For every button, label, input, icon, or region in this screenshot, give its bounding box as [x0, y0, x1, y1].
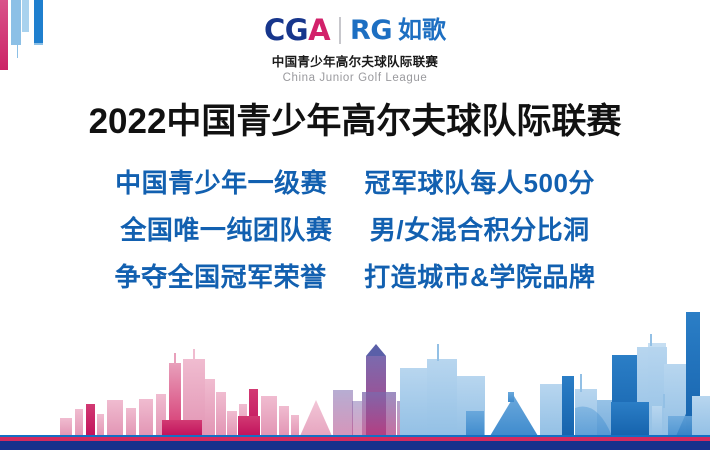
tagline-right: 男/女混合积分比洞: [370, 215, 590, 245]
tagline-row: 全国唯一纯团队赛 男/女混合积分比洞: [0, 207, 710, 254]
skyline-svg: [0, 296, 710, 436]
rg-chinese-name: 如歌: [398, 19, 446, 43]
tagline-right: 冠军球队每人500分: [365, 168, 595, 198]
logo-block: CGA RG 如歌 中国青少年高尔夫球队际联赛 China Junior Gol…: [0, 16, 710, 84]
cga-letter-c: C: [264, 13, 285, 47]
cga-letter-a: A: [308, 13, 330, 47]
skyline-graphic: [0, 296, 710, 436]
page-title: 2022中国青少年高尔夫球队际联赛: [0, 93, 710, 144]
rg-wordmark: RG: [350, 17, 392, 44]
bottom-stripe-navy: [0, 441, 710, 450]
poster-canvas: CGA RG 如歌 中国青少年高尔夫球队际联赛 China Junior Gol…: [0, 0, 710, 450]
tagline-left: 全国唯一纯团队赛: [120, 215, 332, 245]
tagline-row: 争夺全国冠军荣誉 打造城市&学院品牌: [0, 254, 710, 301]
tagline-list: 中国青少年一级赛 冠军球队每人500分 全国唯一纯团队赛 男/女混合积分比洞 争…: [0, 160, 710, 301]
logo-subtitle-chinese: 中国青少年高尔夫球队际联赛: [0, 51, 710, 70]
tagline-left: 中国青少年一级赛: [115, 168, 327, 198]
cga-wordmark: CGA: [264, 16, 330, 45]
logo-divider: [339, 17, 341, 44]
tagline-right: 打造城市&学院品牌: [364, 262, 595, 292]
logo-subtitle-english: China Junior Golf League: [0, 72, 710, 84]
logo-wordmark-row: CGA RG 如歌: [264, 16, 446, 45]
tagline-row: 中国青少年一级赛 冠军球队每人500分: [0, 160, 710, 207]
tagline-left: 争夺全国冠军荣誉: [115, 262, 327, 292]
cga-letter-g: G: [285, 13, 308, 47]
